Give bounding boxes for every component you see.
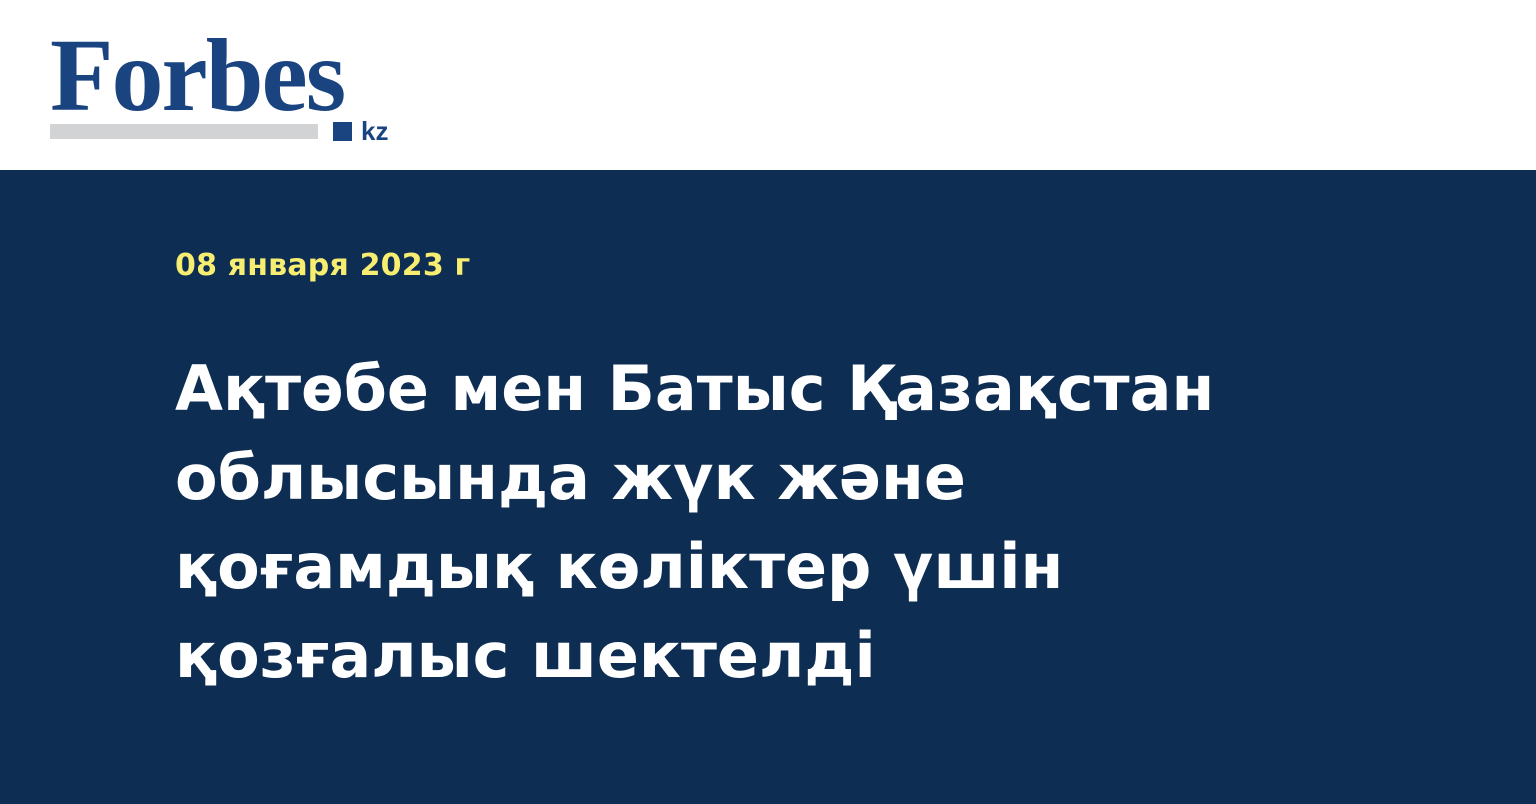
article-headline: Ақтөбе мен Батыс Қазақстан облысында жүк… <box>175 344 1335 700</box>
logo-kz-label: kz <box>361 118 388 144</box>
article-hero-page: Forbes kz 08 января 2023 г Ақтөбе мен Ба… <box>0 0 1536 804</box>
logo-gray-bar <box>50 124 318 139</box>
site-header: Forbes kz <box>0 0 1536 170</box>
logo-square-icon <box>333 122 352 141</box>
forbes-wordmark: Forbes <box>50 24 410 128</box>
logo-underline-row: kz <box>50 120 410 142</box>
forbes-kz-logo[interactable]: Forbes kz <box>50 24 410 142</box>
hero-content: 08 января 2023 г Ақтөбе мен Батыс Қазақс… <box>175 248 1375 700</box>
article-publish-date: 08 января 2023 г <box>175 248 1375 284</box>
hero-banner: 08 января 2023 г Ақтөбе мен Батыс Қазақс… <box>0 170 1536 804</box>
